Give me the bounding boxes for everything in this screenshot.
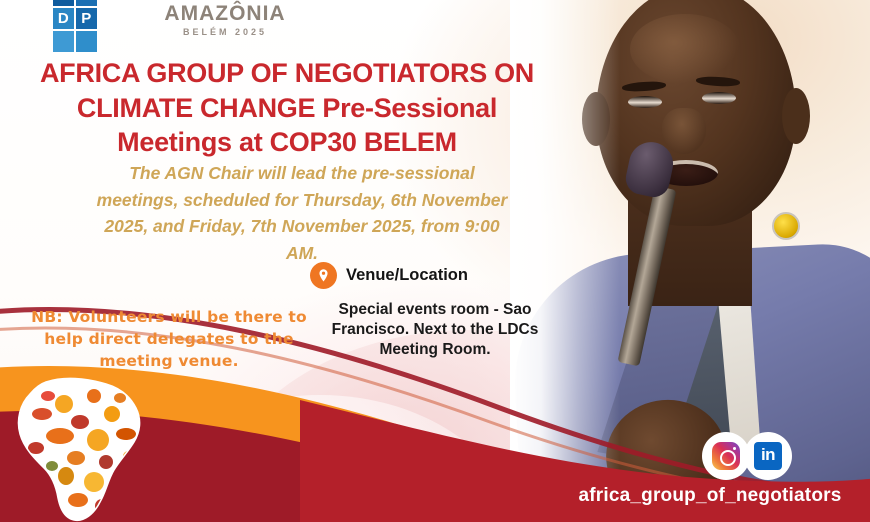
portrait-forehead-highlight: [630, 14, 740, 84]
portrait-nose: [662, 108, 706, 154]
portrait-eye-left: [628, 96, 662, 108]
lapel-pin-icon: [772, 212, 800, 240]
volunteer-note: NB: Volunteers will be there to help dir…: [24, 306, 314, 372]
portrait-eye-right: [702, 92, 736, 104]
speaker-portrait-photo: [510, 0, 870, 522]
instagram-icon[interactable]: [702, 432, 750, 480]
venue-heading: Venue/Location: [310, 262, 560, 289]
social-handle: africa_group_of_negotiators: [560, 485, 860, 507]
portrait-ear-right: [782, 88, 810, 144]
undp-cell-blank-2: [75, 30, 98, 53]
africa-map-icons-graphic: [2, 374, 180, 522]
linkedin-icon[interactable]: in: [744, 432, 792, 480]
undp-cell-p: P: [75, 7, 98, 30]
cop30-logo-amazonia: AMAZÔNIA: [160, 3, 290, 24]
undp-cell-u: U: [52, 0, 75, 7]
undp-cell-d: D: [52, 7, 75, 30]
cop30-logo-belem: BELÉM 2025: [160, 28, 290, 37]
instagram-glyph: [712, 442, 740, 470]
location-pin-icon: [310, 262, 337, 289]
event-description: The AGN Chair will lead the pre-sessiona…: [92, 160, 512, 266]
cop30-brasil-amazonia-logo: BRASIL AMAZÔNIA BELÉM 2025: [160, 0, 290, 37]
venue-label: Venue/Location: [346, 266, 468, 285]
undp-cell-n: N: [75, 0, 98, 7]
undp-cell-blank-1: [52, 30, 75, 53]
undp-logo: U N D P: [52, 0, 98, 53]
social-links[interactable]: in: [702, 432, 792, 480]
poster-canvas: U N D P BRASIL AMAZÔNIA BELÉM 2025 AFRIC…: [0, 0, 870, 522]
linkedin-glyph: in: [754, 442, 782, 470]
venue-address: Special events room - Sao Francisco. Nex…: [310, 300, 560, 360]
page-title: AFRICA GROUP OF NEGOTIATORS ON CLIMATE C…: [22, 56, 552, 160]
